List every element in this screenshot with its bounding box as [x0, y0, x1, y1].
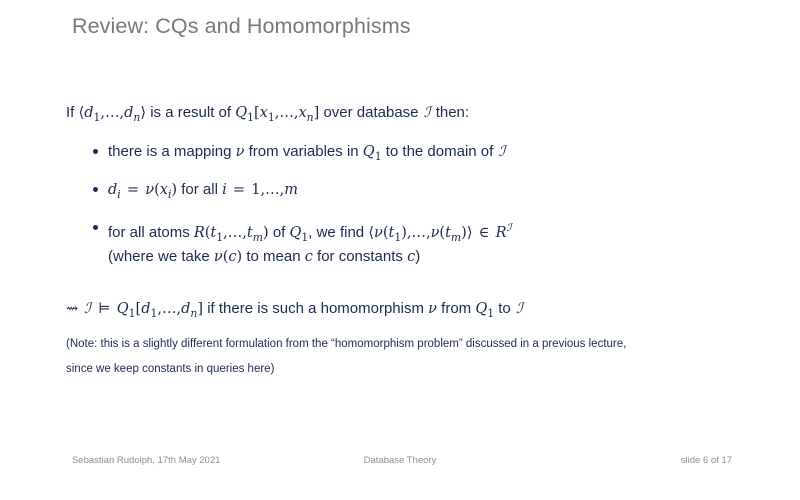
b2-nu: ν: [145, 182, 154, 198]
b2-index-i: i: [222, 182, 227, 198]
b3-sub-c3: c: [407, 249, 415, 265]
lead-is-result-of: is a result of: [150, 104, 231, 121]
var-x1-sub: 1: [268, 111, 275, 124]
lead-dots-1: ,…,: [100, 105, 124, 121]
b2-for-all: for all: [181, 181, 218, 198]
b3-sub-d: for constants: [317, 248, 403, 265]
bullet-dot-icon: [93, 187, 98, 192]
lead-over-database: over database: [323, 104, 418, 121]
b3-sub-nu: ν: [214, 249, 223, 265]
b1-query-Q-sub: 1: [375, 150, 382, 163]
mapping-nu: ν: [236, 144, 245, 160]
query-Q: Q: [235, 105, 247, 121]
var-xn: x: [298, 105, 306, 121]
conc-query-Q2: Q: [475, 301, 487, 317]
footer-slide-number: slide 6 of 17: [681, 455, 732, 466]
bullet-dot-icon: [93, 225, 98, 230]
bullet-3-subtext: (where we take ν(c) to mean c for consta…: [108, 248, 420, 265]
note-block: (Note: this is a slightly different form…: [66, 332, 756, 382]
b3-dots-2: ,…,: [407, 225, 431, 241]
bullet-2-text: di = ν(xi) for all i = 1,…,m: [108, 181, 298, 198]
var-xn-sub: n: [307, 111, 314, 124]
note-line-2: since we keep constants in queries here): [66, 357, 756, 382]
bullet-3-text: for all atoms R(t1,…,tm) of Q1, we find …: [108, 224, 512, 241]
conc-query-Q2-sub: 1: [487, 307, 494, 320]
conc-text-c: to: [498, 300, 511, 317]
b1-text-a: there is a mapping: [108, 143, 231, 160]
instance-I: ℐ: [423, 105, 432, 121]
bullet-1-text: there is a mapping ν from variables in Q…: [108, 143, 506, 160]
bullet-dot-icon: [93, 149, 98, 154]
b3-relation-R: R: [496, 225, 507, 241]
tuple-close: ⟩: [140, 105, 146, 121]
b2-var-d-sub: i: [117, 188, 120, 201]
b3-sub-c1: c: [228, 249, 236, 265]
page-title: Review: CQs and Homomorphisms: [72, 14, 411, 39]
lead-dots-2: ,…,: [275, 105, 299, 121]
slide-body: If ⟨d1,…,dn⟩ is a result of Q1[x1,…,xn] …: [66, 103, 746, 324]
b3-text-a: for all atoms: [108, 224, 190, 241]
b3-tuple-close: ⟩: [467, 225, 473, 241]
b2-equals-2: =: [231, 182, 247, 198]
models-symbol: ⊨: [96, 301, 112, 317]
conc-bracket-close: ]: [197, 301, 203, 317]
b3-nu2-arg-sub: m: [451, 231, 461, 244]
conc-dots: ,…,: [157, 301, 181, 317]
b3-query-Q: Q: [290, 225, 302, 241]
b3-dots-1: ,…,: [223, 225, 247, 241]
b2-paren-close: ): [171, 182, 177, 198]
conc-query-Q: Q: [117, 301, 129, 317]
b1-text-b: from variables in: [249, 143, 359, 160]
b3-nu-1: ν: [374, 225, 383, 241]
relation-R: R: [194, 225, 205, 241]
list-item: for all atoms R(t1,…,tm) of Q1, we find …: [66, 218, 746, 267]
b3-relation-R-sup: ℐ: [507, 221, 512, 234]
b2-var-d: d: [108, 182, 117, 198]
list-item: there is a mapping ν from variables in Q…: [66, 142, 746, 166]
b1-query-Q: Q: [363, 144, 375, 160]
conc-instance-I2: ℐ: [515, 301, 524, 317]
conclusion-statement: ⇝ℐ ⊨ Q1[d1,…,dn] if there is such a homo…: [66, 299, 746, 324]
b3-paren-close: ): [263, 225, 269, 241]
b2-var-x: x: [160, 182, 168, 198]
squiggly-arrow-icon: ⇝: [66, 301, 83, 317]
note-line-1: (Note: this is a slightly different form…: [66, 332, 756, 357]
list-item: di = ν(xi) for all i = 1,…,m: [66, 180, 746, 204]
conc-d1: d: [141, 301, 150, 317]
query-Q-sub: 1: [247, 111, 254, 124]
conc-text-a: if there is such a homomorphism: [207, 300, 424, 317]
b1-instance-I: ℐ: [497, 144, 506, 160]
b3-sub-c2: c: [305, 249, 313, 265]
slide-canvas: Review: CQs and Homomorphisms If ⟨d1,…,d…: [0, 0, 800, 500]
conc-nu: ν: [428, 301, 437, 317]
var-x1: x: [260, 105, 268, 121]
lead-statement: If ⟨d1,…,dn⟩ is a result of Q1[x1,…,xn] …: [66, 103, 746, 128]
b3-term-tm-sub: m: [253, 231, 263, 244]
b3-sub-close: ): [237, 249, 243, 265]
bullet-list: there is a mapping ν from variables in Q…: [66, 142, 746, 267]
lead-then: then:: [436, 104, 469, 121]
b1-text-c: to the domain of: [386, 143, 494, 160]
slide-footer: Sebastian Rudolph, 17th May 2021 Databas…: [0, 455, 800, 475]
b2-equals-1: =: [125, 182, 141, 198]
b3-of: of: [273, 224, 286, 241]
conc-query-Q-sub: 1: [129, 307, 136, 320]
conc-text-b: from: [441, 300, 471, 317]
b2-dots: ,…,: [260, 182, 284, 198]
b3-sub-e: ): [415, 248, 420, 265]
b3-we-find: , we find: [308, 224, 364, 241]
b3-element-of: ∈: [477, 225, 492, 241]
conc-instance-I: ℐ: [83, 301, 92, 317]
b3-sub-b: to mean: [246, 248, 300, 265]
var-dn: d: [124, 105, 133, 121]
conc-dn: d: [181, 301, 190, 317]
lead-if: If: [66, 104, 74, 121]
bracket-close: ]: [314, 105, 320, 121]
b2-var-m: m: [284, 182, 298, 198]
b3-sub-a: (where we take: [108, 248, 210, 265]
